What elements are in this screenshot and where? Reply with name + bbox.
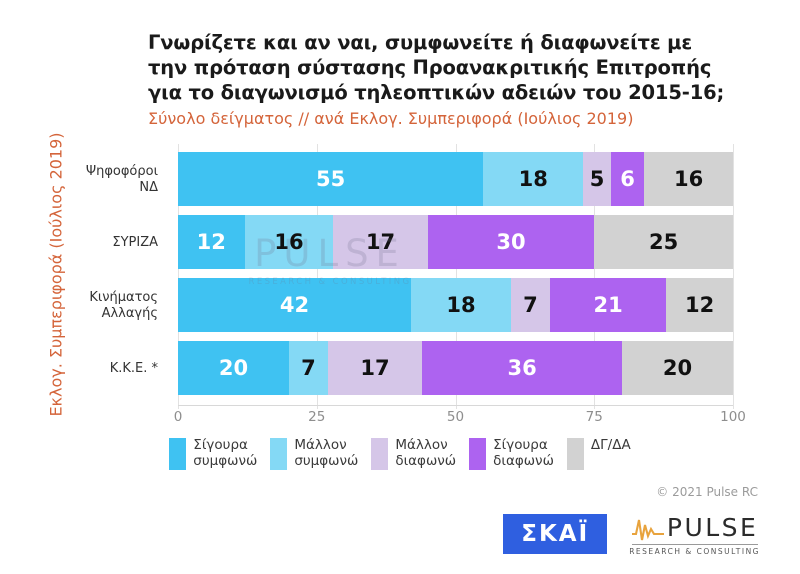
legend-item[interactable]: Σίγουρα συμφωνώ	[169, 437, 257, 470]
category-label: ΣΥΡΙΖΑ	[0, 235, 158, 251]
bar-segment[interactable]: 7	[289, 341, 328, 395]
plot-region: 551856161216173025421872112207173620	[178, 150, 733, 405]
category-label-line: Κ.Κ.Ε. *	[0, 361, 158, 377]
legend-color-swatch	[371, 438, 388, 470]
x-axis-tick-label: 50	[447, 409, 464, 425]
bar-segment[interactable]: 42	[178, 278, 411, 332]
pulse-logo: PULSE RESEARCH & CONSULTING	[629, 512, 760, 556]
bar-segment[interactable]: 18	[411, 278, 511, 332]
stacked-bar-row: 421872112	[178, 278, 733, 332]
pulse-logo-tagline: RESEARCH & CONSULTING	[629, 547, 760, 556]
stacked-bar-row: 55185616	[178, 152, 733, 206]
category-label-line: Ψηφοφόροι	[0, 164, 158, 180]
pulse-logo-wordmark: PULSE	[667, 515, 758, 541]
legend-item[interactable]: Μάλλον διαφωνώ	[371, 437, 456, 470]
category-label-line: Κινήματος	[0, 290, 158, 306]
legend-color-swatch	[169, 438, 186, 470]
x-axis-tick-label: 75	[586, 409, 603, 425]
bar-segment[interactable]: 18	[483, 152, 583, 206]
legend-label: Σίγουρα διαφωνώ	[493, 437, 554, 469]
bar-segment[interactable]: 5	[583, 152, 611, 206]
legend-label: Σίγουρα συμφωνώ	[193, 437, 257, 469]
footer-logos: ΣΚΑΪ PULSE RESEARCH & CONSULTING	[503, 512, 760, 556]
legend-label: Μάλλον συμφωνώ	[294, 437, 358, 469]
bar-segment[interactable]: 36	[422, 341, 622, 395]
skai-logo: ΣΚΑΪ	[503, 514, 607, 554]
bar-segment[interactable]: 20	[178, 341, 289, 395]
category-label: ΚινήματοςΑλλαγής	[0, 290, 158, 322]
copyright-notice: © 2021 Pulse RC	[656, 485, 758, 499]
stacked-bar-row: 1216173025	[178, 215, 733, 269]
pulse-wave-icon	[631, 514, 665, 542]
bar-segment[interactable]: 16	[644, 152, 733, 206]
chart-legend: Σίγουρα συμφωνώΜάλλον συμφωνώΜάλλον διαφ…	[0, 437, 800, 470]
legend-label: ΔΓ/ΔΑ	[591, 437, 631, 453]
bar-segment[interactable]: 12	[666, 278, 733, 332]
bar-segment[interactable]: 30	[428, 215, 595, 269]
x-axis: 0255075100	[178, 405, 733, 427]
category-label-line: ΣΥΡΙΖΑ	[0, 235, 158, 251]
bar-segment[interactable]: 16	[245, 215, 334, 269]
category-label-line: ΝΔ	[0, 180, 158, 196]
legend-item[interactable]: ΔΓ/ΔΑ	[567, 437, 631, 470]
gridline	[733, 144, 734, 409]
legend-color-swatch	[270, 438, 287, 470]
bar-segment[interactable]: 20	[622, 341, 733, 395]
bar-segment[interactable]: 12	[178, 215, 245, 269]
stacked-bar-row: 207173620	[178, 341, 733, 395]
x-axis-line	[178, 405, 733, 406]
pulse-logo-top: PULSE	[631, 514, 758, 542]
category-axis-labels: ΨηφοφόροιΝΔΣΥΡΙΖΑΚινήματοςΑλλαγήςΚ.Κ.Ε. …	[0, 150, 168, 405]
x-axis-tick-label: 0	[174, 409, 183, 425]
legend-item[interactable]: Σίγουρα διαφωνώ	[469, 437, 554, 470]
x-axis-tick-label: 100	[720, 409, 746, 425]
bar-segment[interactable]: 6	[611, 152, 644, 206]
stacked-bar-rows: 551856161216173025421872112207173620	[178, 150, 733, 405]
bar-segment[interactable]: 21	[550, 278, 667, 332]
legend-color-swatch	[469, 438, 486, 470]
legend-color-swatch	[567, 438, 584, 470]
pulse-logo-rule	[632, 544, 758, 545]
bar-segment[interactable]: 17	[333, 215, 427, 269]
legend-item[interactable]: Μάλλον συμφωνώ	[270, 437, 358, 470]
category-label: Κ.Κ.Ε. *	[0, 361, 158, 377]
bar-segment[interactable]: 25	[594, 215, 733, 269]
bar-segment[interactable]: 7	[511, 278, 550, 332]
bar-segment[interactable]: 55	[178, 152, 483, 206]
category-label: ΨηφοφόροιΝΔ	[0, 164, 158, 196]
x-axis-tick-label: 25	[308, 409, 325, 425]
legend-label: Μάλλον διαφωνώ	[395, 437, 456, 469]
bar-segment[interactable]: 17	[328, 341, 422, 395]
chart-page: Γνωρίζετε και αν ναι, συμφωνείτε ή διαφω…	[0, 0, 800, 574]
category-label-line: Αλλαγής	[0, 306, 158, 322]
